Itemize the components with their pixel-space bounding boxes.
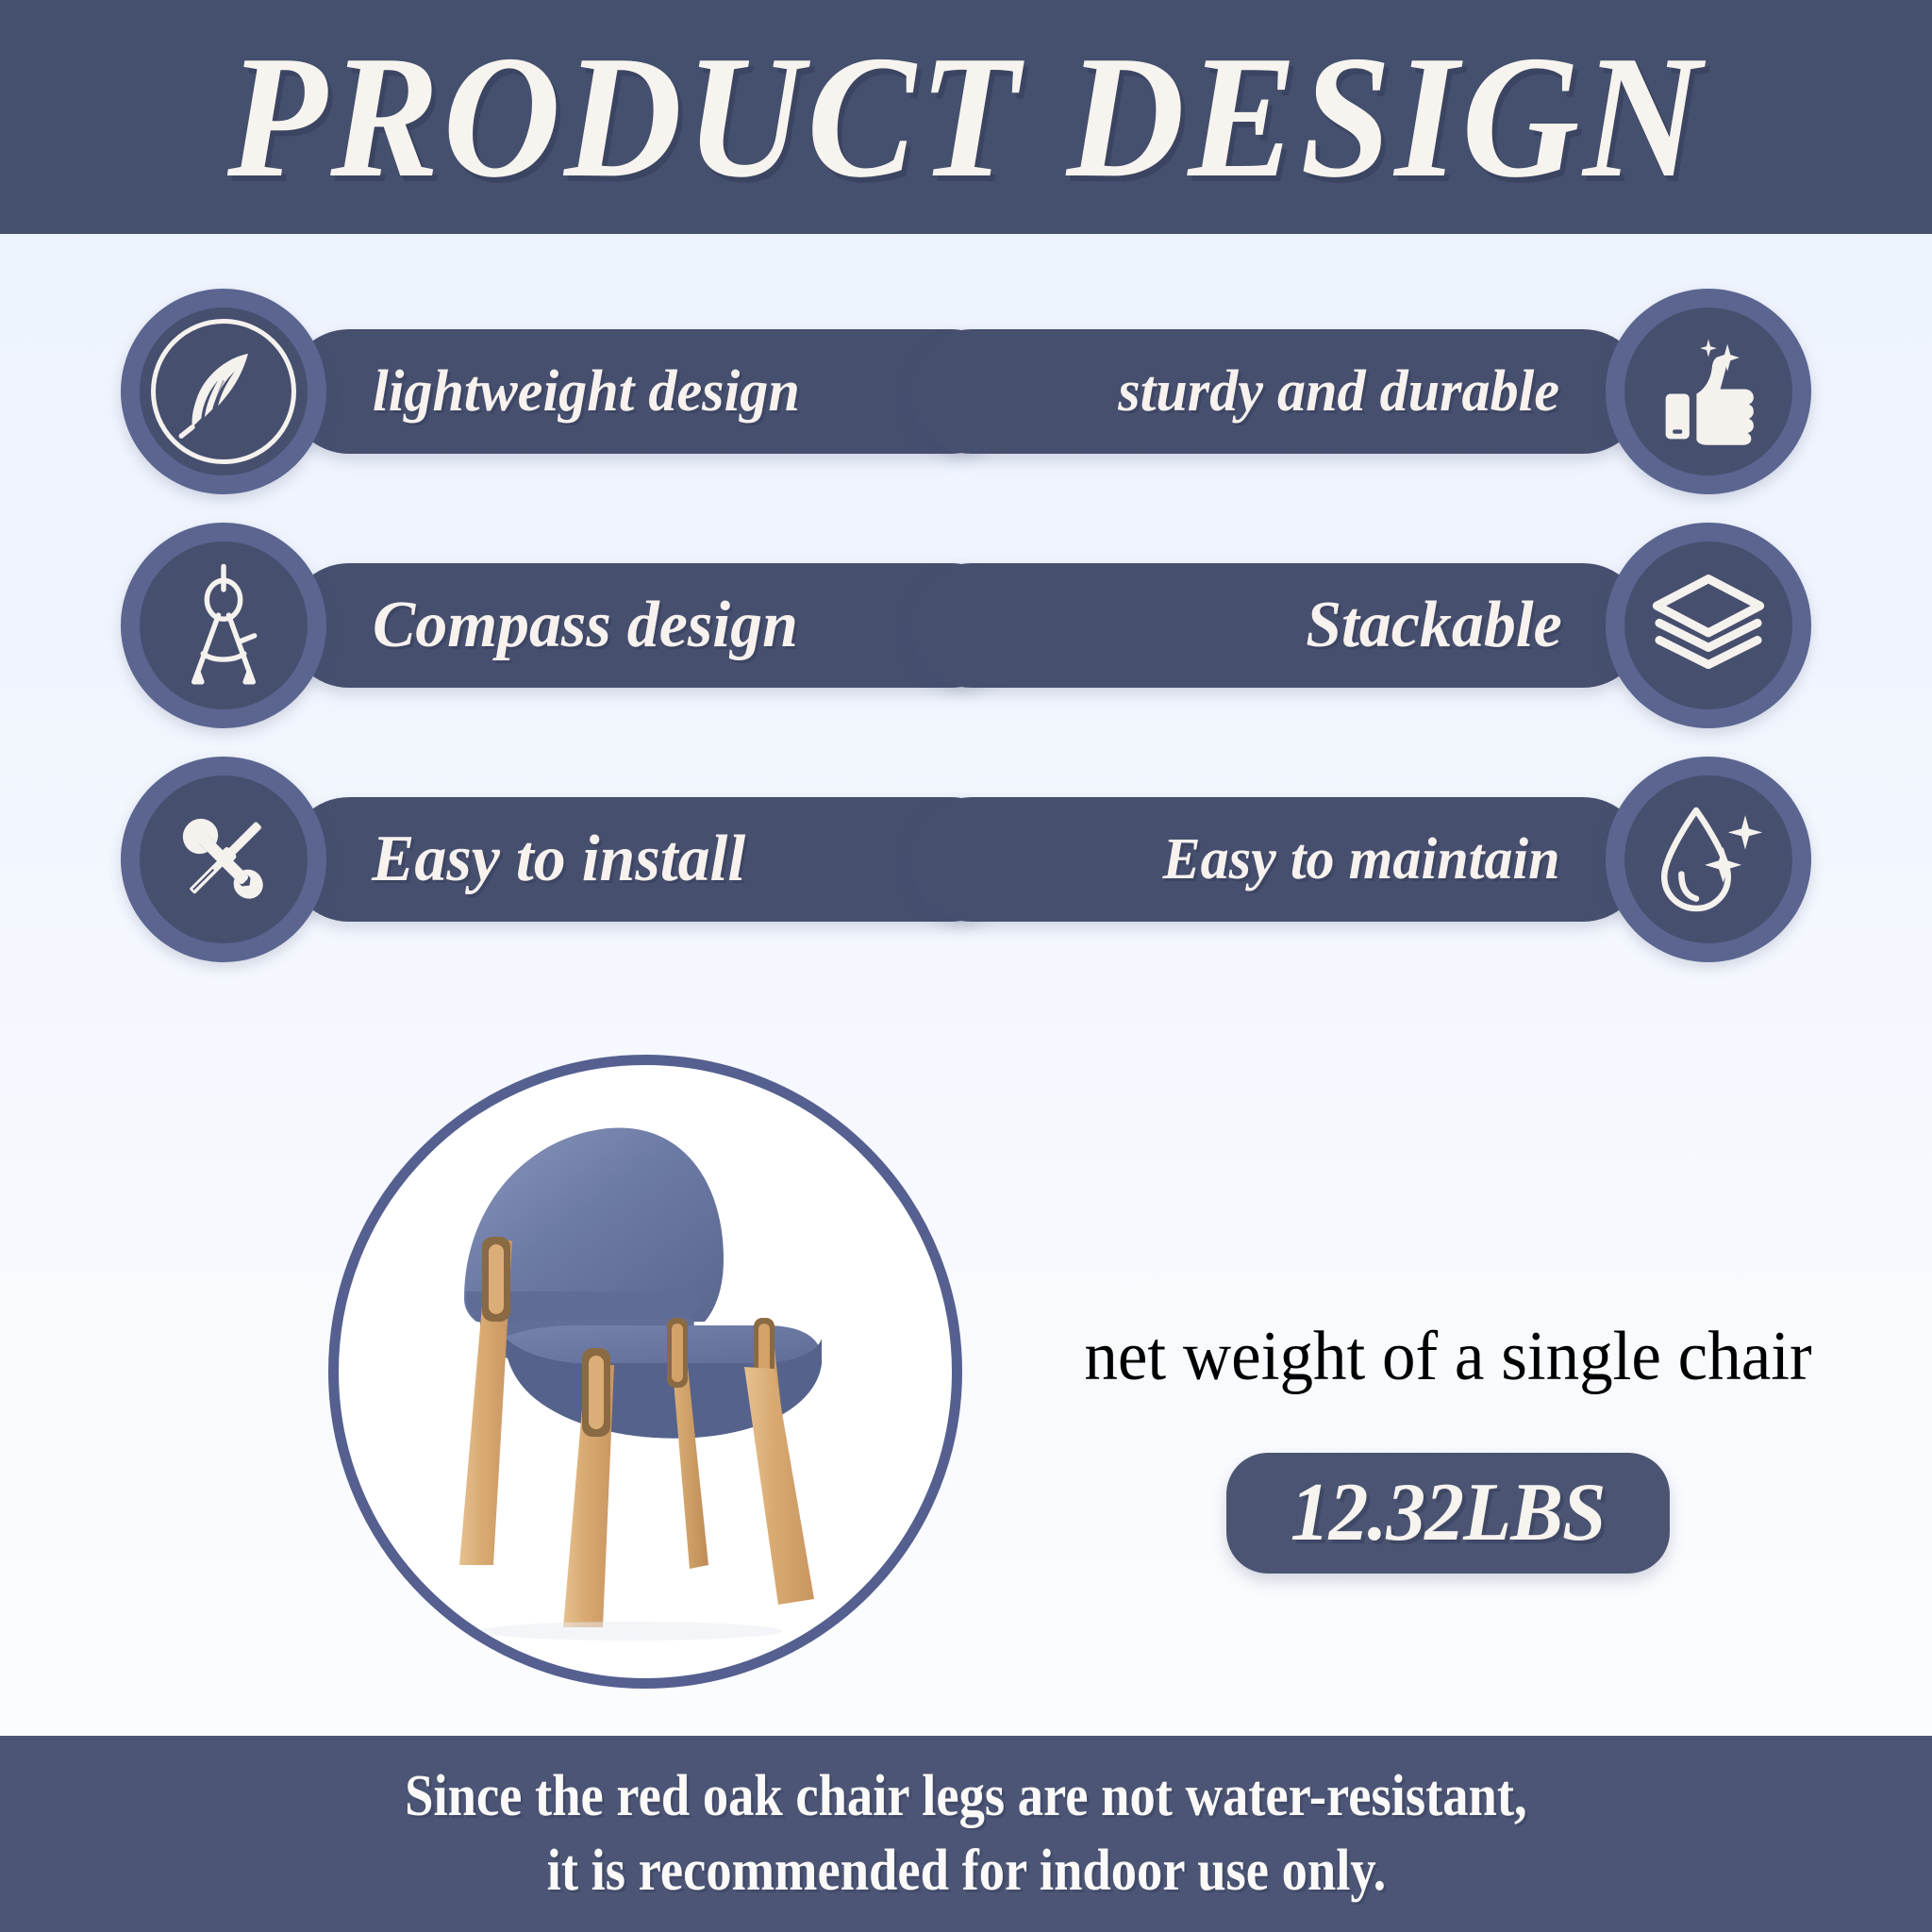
feature-item-stackable[interactable]: Stackable	[909, 517, 1811, 734]
feature-label: lightweight design	[373, 358, 800, 425]
feature-label: Stackable	[1306, 588, 1562, 663]
chair-illustration	[339, 1065, 952, 1678]
product-photo	[328, 1055, 962, 1689]
feature-pill-lightweight-design[interactable]: lightweight design	[287, 329, 1013, 454]
compass-icon-glyph	[159, 561, 288, 690]
wrench-screwdriver-icon-glyph	[164, 800, 283, 919]
feature-label: Easy to install	[372, 822, 745, 897]
feature-pill-stackable[interactable]: Stackable	[909, 563, 1645, 688]
page-title: PRODUCT DESIGN	[227, 29, 1705, 205]
feature-item-easy-to-install[interactable]: Easy to install	[121, 751, 1013, 968]
feature-label: Easy to maintain	[1162, 826, 1559, 893]
feature-pill-easy-to-install[interactable]: Easy to install	[287, 797, 1013, 922]
layers-stack-icon	[1606, 523, 1811, 728]
feature-item-compass-design[interactable]: Compass design	[121, 517, 1013, 734]
wrench-screwdriver-icon	[121, 757, 326, 962]
net-weight-block: net weight of a single chair 12.32LBS	[1033, 1321, 1863, 1574]
water-droplet-sparkle-icon-glyph	[1647, 798, 1770, 921]
feature-label: sturdy and durable	[1118, 358, 1559, 425]
net-weight-badge: 12.32LBS	[1226, 1453, 1670, 1574]
compass-icon	[121, 523, 326, 728]
feather-icon-glyph	[168, 336, 279, 447]
feature-grid: lightweight design	[0, 234, 1932, 1036]
feather-icon	[121, 289, 326, 494]
footer-line-1: Since the red oak chair legs are not wat…	[405, 1759, 1527, 1834]
feature-pill-easy-to-maintain[interactable]: Easy to maintain	[909, 797, 1645, 922]
net-weight-value: 12.32LBS	[1291, 1465, 1606, 1560]
water-droplet-sparkle-icon	[1606, 757, 1811, 962]
thumbs-up-sparkle-icon	[1606, 289, 1811, 494]
product-design-infographic: PRODUCT DESIGN lightweight design	[0, 0, 1932, 1932]
footer-line-2: it is recommended for indoor use only.	[546, 1834, 1386, 1908]
thumbs-up-sparkle-icon-glyph	[1649, 332, 1768, 451]
feature-item-lightweight-design[interactable]: lightweight design	[121, 283, 1013, 500]
feature-pill-sturdy-and-durable[interactable]: sturdy and durable	[909, 329, 1645, 454]
footer-bar: Since the red oak chair legs are not wat…	[0, 1736, 1932, 1932]
feature-pill-compass-design[interactable]: Compass design	[287, 563, 1013, 688]
layers-stack-icon-glyph	[1647, 564, 1770, 687]
net-weight-caption: net weight of a single chair	[1050, 1321, 1847, 1394]
feature-item-sturdy-and-durable[interactable]: sturdy and durable	[909, 283, 1811, 500]
feature-label: Compass design	[373, 588, 798, 663]
feature-item-easy-to-maintain[interactable]: Easy to maintain	[909, 751, 1811, 968]
header-bar: PRODUCT DESIGN	[0, 0, 1932, 234]
